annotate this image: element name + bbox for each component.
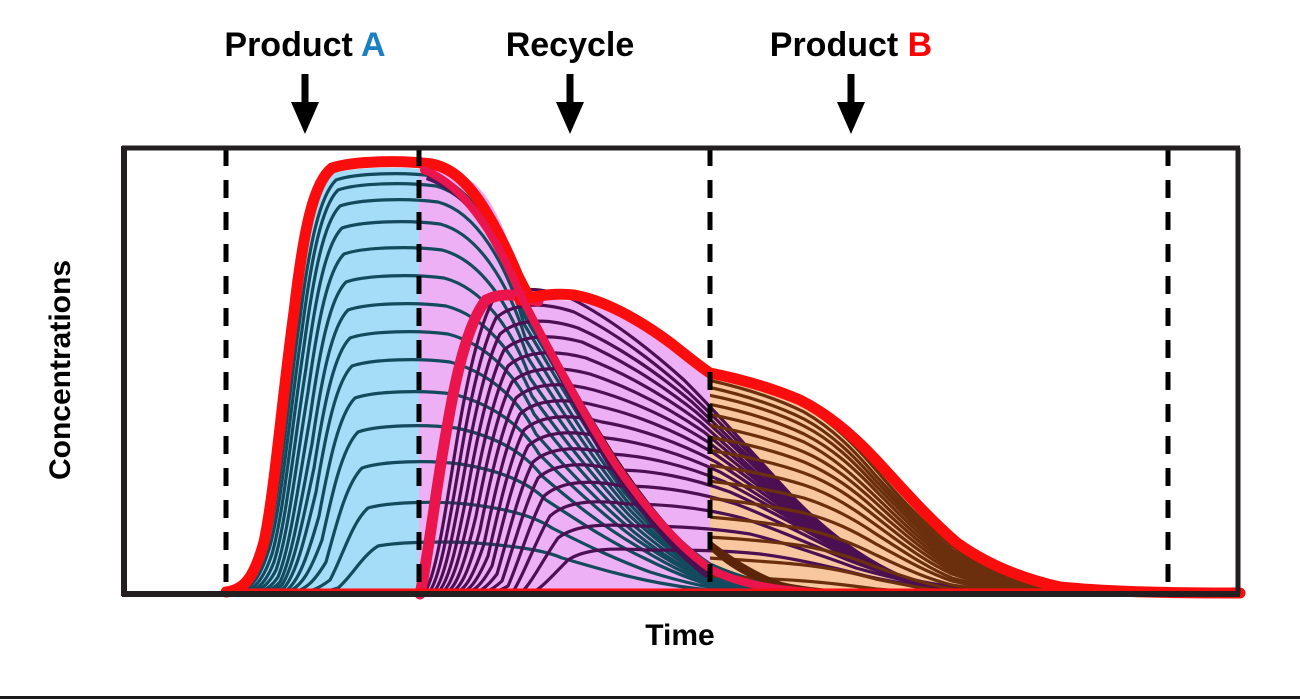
annotation-product-a-prefix: Product (224, 26, 361, 64)
arrow-product-b (837, 74, 865, 134)
annotation-product-b-prefix: Product (770, 26, 908, 64)
annotation-arrow-group (291, 74, 865, 134)
annotation-label-recycle: Recycle (506, 26, 635, 64)
arrow-product-a (291, 74, 319, 134)
annotation-label-product-a: Product A (224, 26, 385, 64)
annotation-recycle-prefix: Recycle (506, 26, 635, 64)
x-axis-title: Time (645, 619, 714, 652)
annotation-product-a-suffix: A (361, 26, 386, 64)
footer-divider (0, 696, 1300, 699)
y-axis-title: Concentrations (44, 260, 77, 480)
chromatogram-svg: Product A Recycle Product B Time Concent… (0, 0, 1300, 700)
chart-figure: Product A Recycle Product B Time Concent… (0, 0, 1300, 700)
annotation-label-product-b: Product B (770, 26, 932, 64)
arrow-recycle (556, 74, 584, 134)
annotation-product-b-suffix: B (908, 26, 933, 64)
